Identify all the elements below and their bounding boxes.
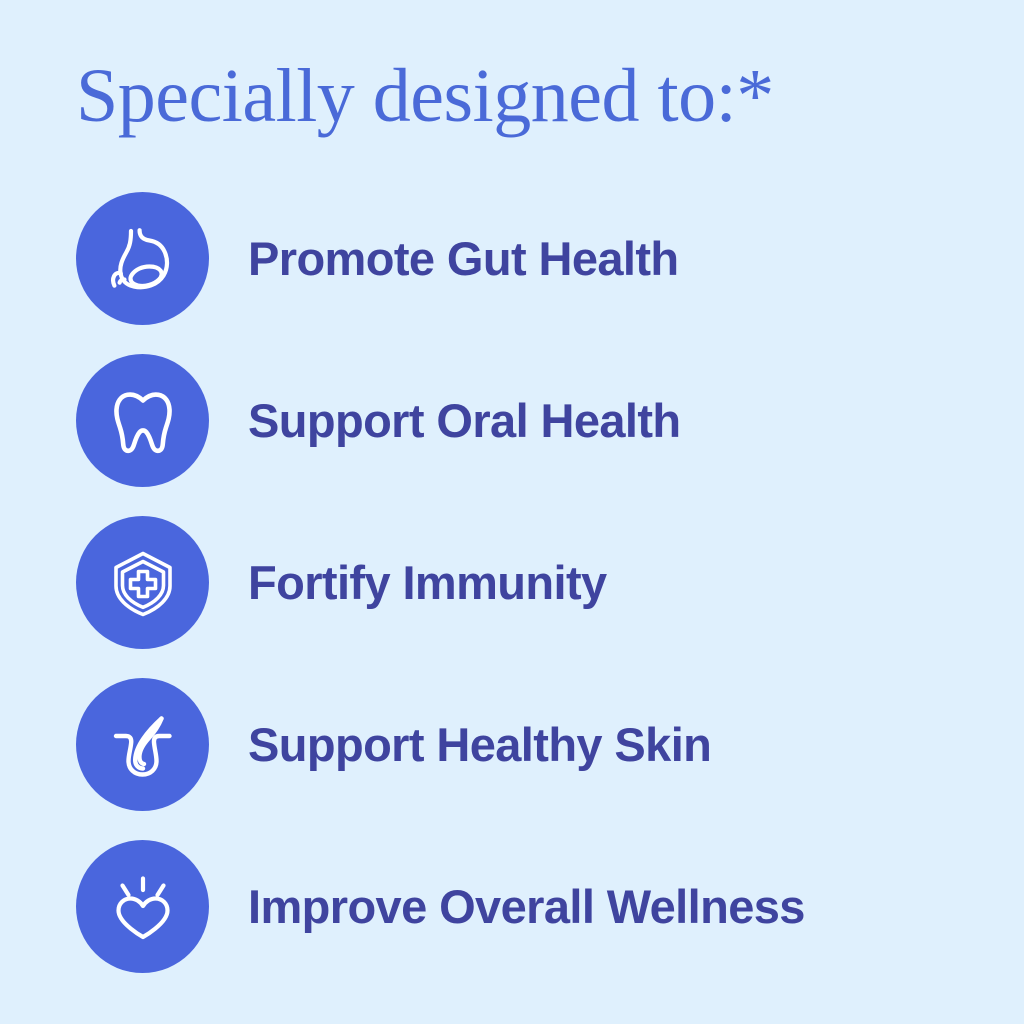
- list-item: Fortify Immunity: [76, 516, 976, 649]
- benefit-label: Support Oral Health: [248, 396, 681, 445]
- benefit-label: Support Healthy Skin: [248, 720, 711, 769]
- stomach-icon: [100, 216, 186, 302]
- benefit-label: Fortify Immunity: [248, 558, 607, 607]
- stomach-icon-badge: [76, 192, 209, 325]
- list-item: Support Oral Health: [76, 354, 976, 487]
- page-title: Specially designed to:*: [76, 58, 774, 134]
- shield-plus-icon-badge: [76, 516, 209, 649]
- list-item: Support Healthy Skin: [76, 678, 976, 811]
- hair-follicle-icon: [100, 702, 186, 788]
- benefits-poster: Specially designed to:* Promote Gut Heal…: [0, 0, 1024, 1024]
- shining-heart-icon-badge: [76, 840, 209, 973]
- shield-plus-icon: [100, 540, 186, 626]
- benefit-label: Promote Gut Health: [248, 234, 679, 283]
- tooth-icon: [100, 378, 186, 464]
- list-item: Improve Overall Wellness: [76, 840, 976, 973]
- tooth-icon-badge: [76, 354, 209, 487]
- benefits-list: Promote Gut Health Support Oral Health: [76, 192, 976, 973]
- list-item: Promote Gut Health: [76, 192, 976, 325]
- benefit-label: Improve Overall Wellness: [248, 882, 805, 931]
- shining-heart-icon: [100, 864, 186, 950]
- hair-follicle-icon-badge: [76, 678, 209, 811]
